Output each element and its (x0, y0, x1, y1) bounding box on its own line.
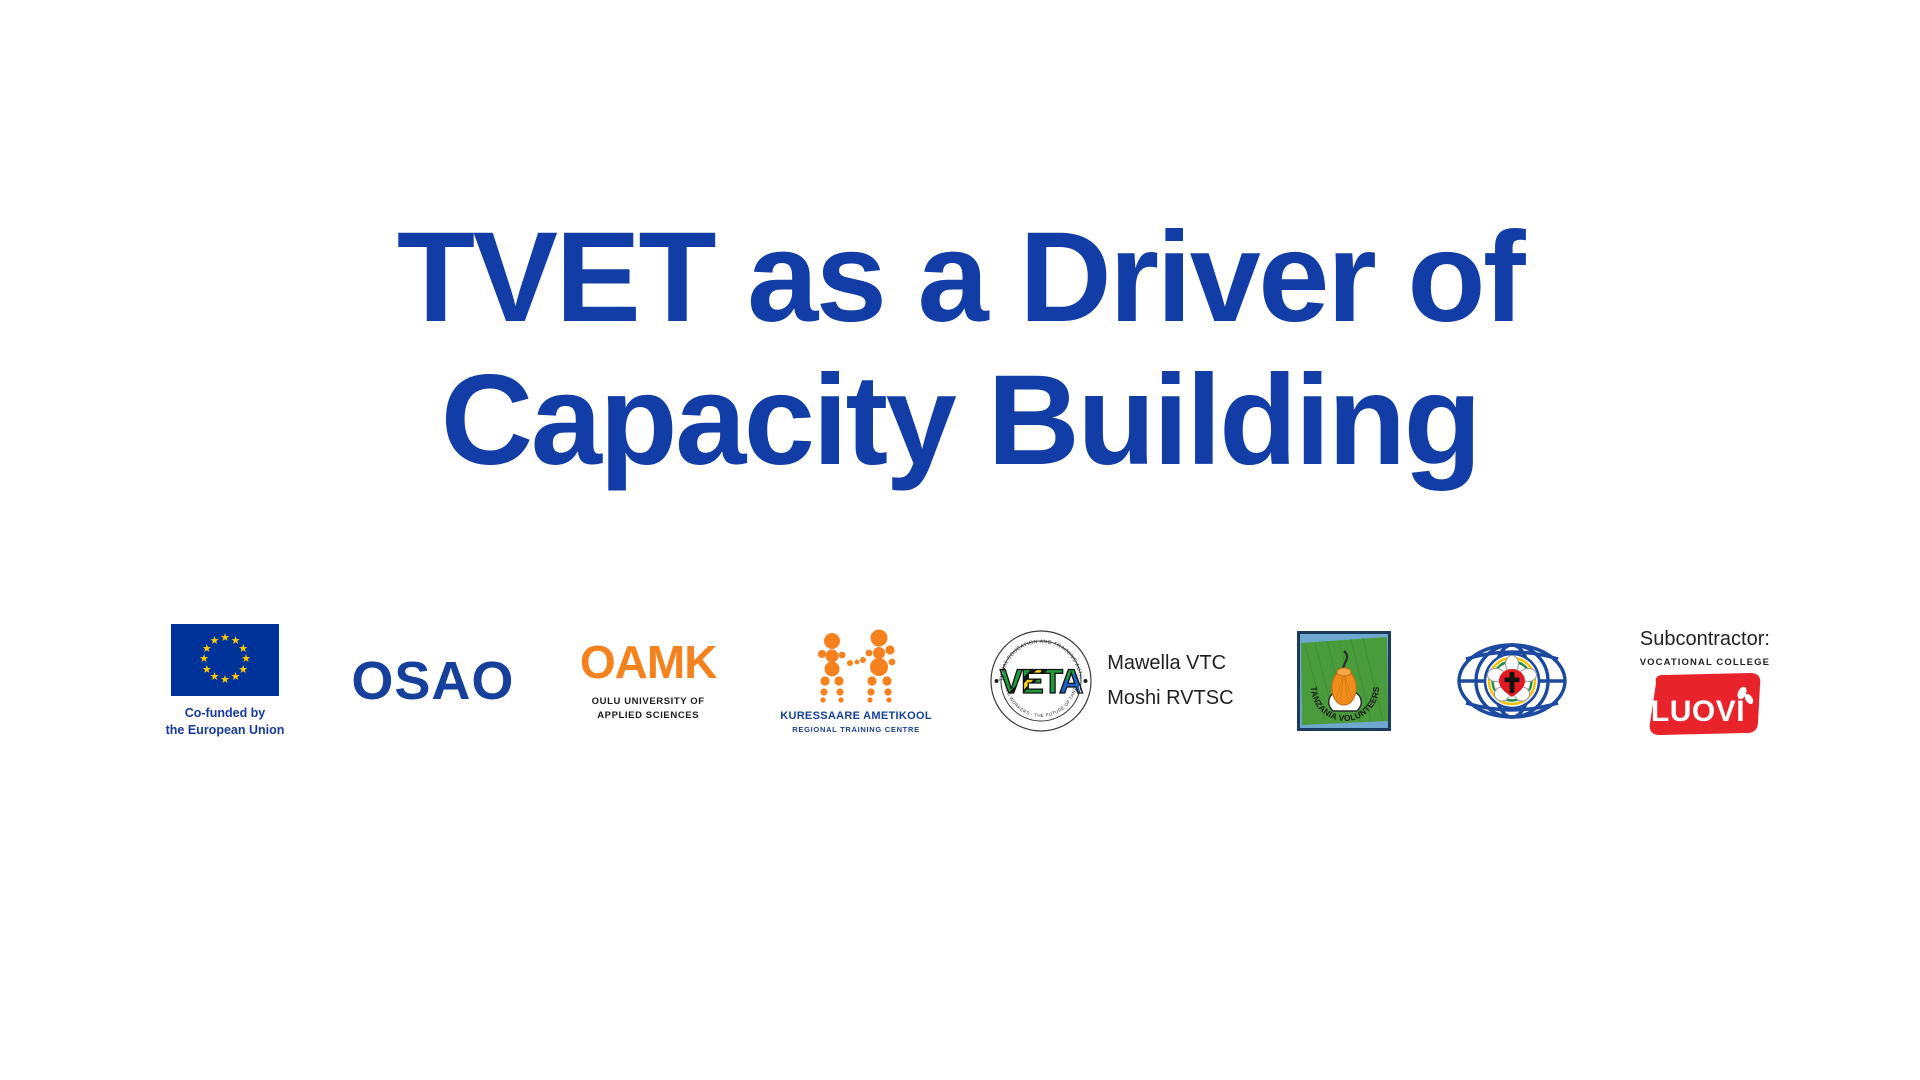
title-line-2: Capacity Building (0, 349, 1920, 492)
osao-wordmark: OSAO (351, 654, 514, 708)
oamk-subtitle-line-1: OULU UNIVERSITY OF (592, 695, 705, 709)
veta-partner-line-2: Moshi RVTSC (1107, 687, 1233, 710)
svg-text:LUOVI: LUOVI (1651, 695, 1745, 728)
eu-caption-line-2: the European Union (166, 722, 285, 739)
eu-caption: Co-funded by the European Union (166, 705, 285, 739)
logo-oamk: OAMK OULU UNIVERSITY OF APPLIED SCIENCES (566, 596, 731, 766)
logo-luovi: Subcontractor: VOCATIONAL COLLEGE LUOVI (1620, 596, 1790, 766)
title-line-1: TVET as a Driver of (0, 206, 1920, 349)
oamk-wordmark: OAMK (580, 639, 717, 685)
subcontractor-label: Subcontractor: (1640, 628, 1770, 651)
kuressaare-people-icon (808, 629, 904, 703)
eu-star-icon: ★ (209, 636, 220, 647)
eu-flag-icon: ★★★★★★★★★★★★ (171, 624, 279, 696)
veta-seal-icon: VOCATIONAL EDUCATION AND TRAINING AUTHOR… (989, 629, 1093, 733)
kuressaare-name: KURESSAARE AMETIKOOL (780, 710, 932, 722)
eu-star-icon: ★ (201, 665, 212, 676)
oamk-subtitle: OULU UNIVERSITY OF APPLIED SCIENCES (592, 695, 705, 724)
veta-partner-line-1: Mawella VTC (1107, 652, 1233, 675)
eu-star-icon: ★ (199, 654, 210, 665)
logo-lutheran-church (1447, 596, 1577, 766)
lutheran-rose-icon (1456, 639, 1568, 723)
tanzania-volunteers-icon: TANZANIA VOLUNTEERS (1295, 629, 1393, 733)
veta-partner-text: Mawella VTC Moshi RVTSC (1107, 652, 1233, 710)
page-title: TVET as a Driver of Capacity Building (0, 206, 1920, 493)
luovi-subtitle: VOCATIONAL COLLEGE (1640, 657, 1770, 668)
eu-star-icon: ★ (220, 675, 231, 686)
partner-logo-row: ★★★★★★★★★★★★ Co-funded by the European U… (150, 596, 1790, 766)
eu-caption-line-1: Co-funded by (166, 705, 285, 722)
svg-text:VETA: VETA (1000, 663, 1083, 701)
kuressaare-subtitle: REGIONAL TRAINING CENTRE (792, 725, 920, 734)
logo-tanzania-volunteers: TANZANIA VOLUNTEERS (1284, 596, 1404, 766)
oamk-subtitle-line-2: APPLIED SCIENCES (592, 709, 705, 723)
eu-star-icon: ★ (220, 633, 231, 644)
slide-root: TVET as a Driver of Capacity Building ★★… (0, 0, 1920, 1080)
luovi-badge-icon: LUOVI (1646, 673, 1764, 735)
logo-european-union: ★★★★★★★★★★★★ Co-funded by the European U… (150, 596, 300, 766)
eu-star-icon: ★ (230, 672, 241, 683)
logo-veta: VOCATIONAL EDUCATION AND TRAINING AUTHOR… (981, 596, 1241, 766)
logo-kuressaare-ametikool: KURESSAARE AMETIKOOL REGIONAL TRAINING C… (774, 596, 939, 766)
logo-osao: OSAO (343, 596, 523, 766)
